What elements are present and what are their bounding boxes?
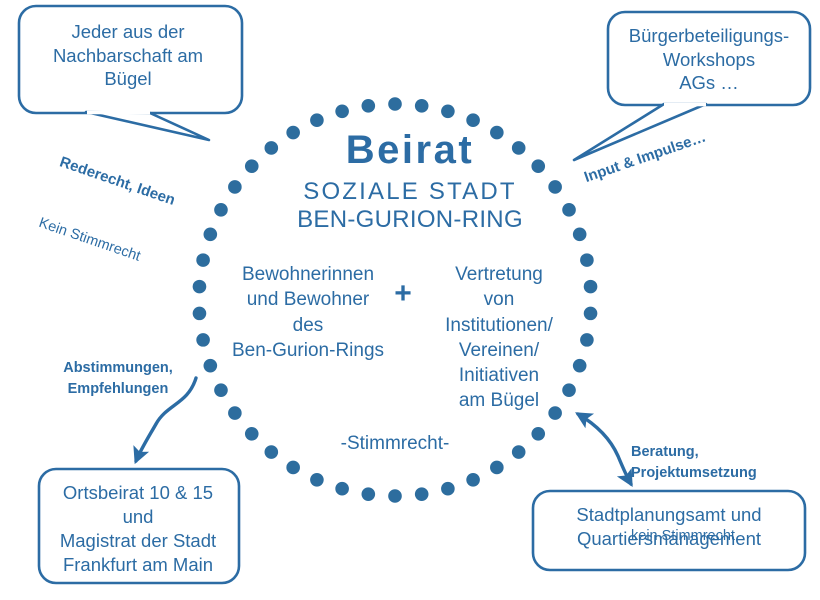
ring-dot bbox=[196, 333, 210, 347]
label-kein-stimmrecht: Kein Stimmrecht bbox=[36, 213, 157, 272]
ring-dot bbox=[580, 333, 594, 347]
ring-dot bbox=[310, 473, 324, 487]
label-abstimmungen-empfehlungen: Abstimmungen, Empfehlungen bbox=[48, 358, 188, 400]
label-beratung-projektumsetzung: Beratung, Projektumsetzung kein Stimmrec… bbox=[631, 400, 781, 589]
ring-dot bbox=[573, 359, 587, 373]
ring-dot bbox=[415, 487, 429, 501]
ring-dot bbox=[310, 113, 324, 127]
ring-dot bbox=[466, 473, 480, 487]
center-column-left: Bewohnerinnen und Bewohner des Ben-Gurio… bbox=[222, 262, 394, 363]
ring-dot bbox=[214, 383, 228, 397]
ring-dot bbox=[584, 280, 598, 294]
ring-dot bbox=[362, 99, 376, 113]
ring-dot bbox=[193, 307, 207, 321]
ring-dot bbox=[228, 406, 242, 420]
ring-dot bbox=[335, 104, 349, 118]
ring-dot bbox=[193, 280, 207, 294]
ring-dot bbox=[580, 253, 594, 267]
ring-dot bbox=[362, 487, 376, 501]
bubble-top-right-text: Bürgerbeteiligungs- Workshops AGs … bbox=[612, 24, 806, 95]
ring-dot bbox=[388, 97, 402, 111]
plus-icon: + bbox=[386, 276, 420, 313]
box-bottom-left-text: Ortsbeirat 10 & 15 und Magistrat der Sta… bbox=[42, 481, 234, 577]
ring-dot bbox=[335, 482, 349, 496]
ring-dot bbox=[490, 461, 504, 475]
label-beratung-bold: Beratung, Projektumsetzung bbox=[631, 442, 781, 484]
ring-dot bbox=[388, 489, 402, 503]
ring-dot bbox=[196, 253, 210, 267]
center-column-right: Vertretung von Institutionen/ Vereinen/ … bbox=[425, 262, 573, 414]
ring-dot bbox=[584, 307, 598, 321]
ring-dot bbox=[466, 113, 480, 127]
ring-dot bbox=[441, 104, 455, 118]
ring-dot bbox=[204, 359, 218, 373]
ring-dot bbox=[286, 461, 300, 475]
label-rederecht-bold: Rederecht, Ideen bbox=[57, 151, 178, 211]
bubble-top-left-text: Jeder aus der Nachbarschaft am Bügel bbox=[26, 20, 230, 91]
diagram-canvas: Jeder aus der Nachbarschaft am Bügel Bür… bbox=[0, 0, 820, 600]
ring-dot bbox=[415, 99, 429, 113]
label-beratung-sub: kein Stimmrecht bbox=[631, 526, 781, 547]
ring-dot bbox=[441, 482, 455, 496]
